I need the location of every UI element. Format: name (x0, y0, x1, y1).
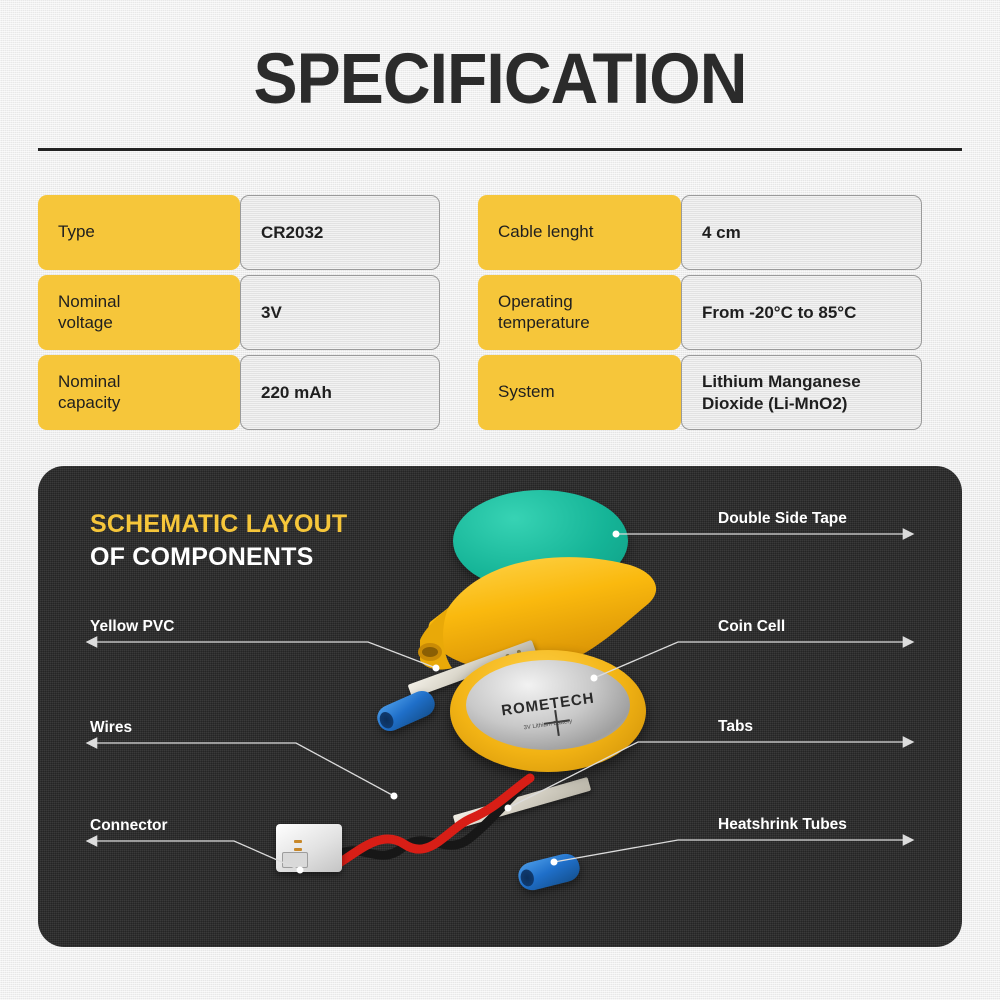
callout-label-heatshrink-tubes: Heatshrink Tubes (718, 816, 847, 834)
callout-label-yellow-pvc: Yellow PVC (90, 618, 174, 636)
column-gap (440, 275, 478, 350)
spec-label-system: System (478, 355, 681, 430)
callout-leader-lines (38, 466, 962, 947)
spec-value-nominal-voltage: 3V (240, 275, 440, 350)
callout-label-tabs: Tabs (718, 718, 753, 736)
column-gap (440, 195, 478, 270)
callout-label-double-side-tape: Double Side Tape (718, 510, 847, 528)
spec-label-nominal-voltage: Nominalvoltage (38, 275, 240, 350)
column-gap (440, 355, 478, 430)
spec-value-system: Lithium ManganeseDioxide (Li-MnO2) (681, 355, 922, 430)
spec-label-operating-temperature: Operatingtemperature (478, 275, 681, 350)
spec-value-nominal-capacity: 220 mAh (240, 355, 440, 430)
spec-value-type: CR2032 (240, 195, 440, 270)
page-title: SPECIFICATION (35, 44, 965, 115)
spec-label-cable-lenght: Cable lenght (478, 195, 681, 270)
title-divider (38, 148, 962, 151)
specification-table: Type CR2032 Cable lenght 4 cm Nominalvol… (38, 195, 962, 430)
callout-label-wires: Wires (90, 719, 132, 737)
spec-label-nominal-capacity: Nominalcapacity (38, 355, 240, 430)
spec-label-type: Type (38, 195, 240, 270)
spec-value-operating-temperature: From -20°C to 85°C (681, 275, 922, 350)
callout-label-connector: Connector (90, 817, 168, 835)
callout-label-coin-cell: Coin Cell (718, 618, 785, 636)
schematic-panel: SCHEMATIC LAYOUT OF COMPONENTS (38, 466, 962, 947)
spec-value-cable-lenght: 4 cm (681, 195, 922, 270)
